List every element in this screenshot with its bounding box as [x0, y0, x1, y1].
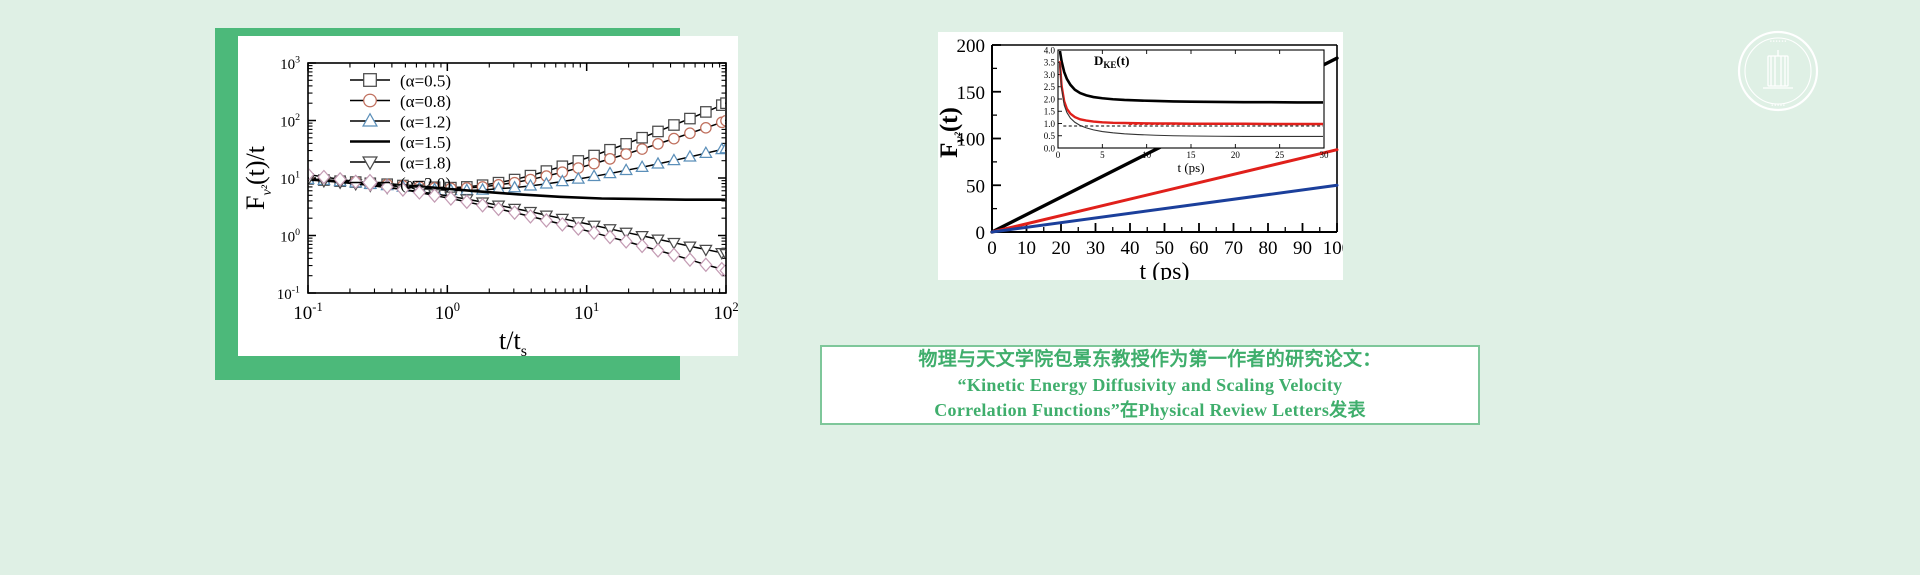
x-tick-label: 100 [1323, 238, 1343, 259]
y-axis-title: Fv²(t)/t [241, 145, 275, 210]
tick-label: 100 [280, 227, 300, 245]
right-figure-card: 0501001502000102030405060708090100t (ps)… [938, 32, 1343, 280]
legend-item[interactable]: (α=0.8) [350, 92, 451, 111]
series-marker [589, 158, 599, 168]
inset-x-tick-label: 15 [1187, 150, 1197, 160]
series-marker [636, 239, 647, 252]
tick-label: 101 [574, 300, 599, 324]
svg-text:101: 101 [574, 300, 599, 324]
x-tick-label: 0 [987, 238, 997, 259]
legend-label: (α=1.2) [400, 113, 451, 132]
series-marker [637, 133, 647, 143]
y-tick-label: 0 [976, 223, 986, 244]
legend-item[interactable]: (α=1.2) [350, 113, 451, 132]
series-marker [701, 107, 711, 117]
paper-announcement-caption: 物理与天文学院包景东教授作为第一作者的研究论文： “Kinetic Energy… [820, 345, 1480, 425]
y-tick-label: 50 [966, 176, 985, 197]
inset-y-tick-label: 2.5 [1044, 82, 1056, 92]
legend-label: (α=2.0) [400, 174, 451, 193]
x-tick-labels: 10-1100101102 [293, 300, 738, 324]
inset-chart: 0.00.51.01.52.02.53.03.54.0051015202530t… [1044, 45, 1329, 175]
tick-label: 102 [280, 112, 300, 130]
inset-y-tick-label: 4.0 [1044, 45, 1056, 55]
series-marker [573, 163, 583, 173]
series-marker [700, 258, 711, 271]
legend-item[interactable]: (α=1.5) [350, 133, 451, 152]
svg-text:100: 100 [435, 300, 460, 324]
svg-text:● ● ● ● ● ●: ● ● ● ● ● ● [1770, 39, 1787, 43]
series-marker [620, 235, 631, 248]
series-marker [363, 114, 377, 126]
series-marker [573, 222, 584, 235]
caption-line-2: “Kinetic Energy Diffusivity and Scaling … [958, 373, 1343, 398]
series-marker [685, 113, 695, 123]
y-tick-label: 150 [957, 83, 986, 104]
svg-text:102: 102 [280, 112, 300, 130]
series-marker [605, 154, 615, 164]
y-tick-label: 200 [957, 36, 986, 57]
series-marker [637, 144, 647, 154]
inset-y-tick-label: 2.0 [1044, 94, 1056, 104]
svg-text:Fv²(t)/t: Fv²(t)/t [241, 145, 275, 210]
x-tick-label: 80 [1259, 238, 1278, 259]
x-tick-label: 10 [1017, 238, 1036, 259]
left-figure-card: 10-110010110210-1100101102103t/tsFv²(t)/… [238, 36, 738, 356]
tick-label: 102 [713, 300, 738, 324]
tick-label: 101 [280, 170, 300, 188]
inset-x-tick-label: 30 [1320, 150, 1330, 160]
tick-label: 10-1 [277, 285, 300, 303]
series-marker [653, 126, 663, 136]
legend-label: (α=0.8) [400, 92, 451, 111]
legend-item[interactable]: (α=2.0) [350, 174, 451, 193]
right-chart-plot: 0501001502000102030405060708090100t (ps)… [938, 32, 1343, 280]
svg-text:● ● ● ● ●: ● ● ● ● ● [1771, 103, 1785, 107]
tick-label: 100 [435, 300, 460, 324]
inset-y-tick-label: 0.0 [1044, 143, 1056, 153]
series-marker [653, 139, 663, 149]
inset-x-tick-label: 5 [1100, 150, 1105, 160]
svg-text:10-1: 10-1 [293, 300, 322, 324]
x-tick-label: 60 [1190, 238, 1209, 259]
legend-label: (α=0.5) [400, 72, 451, 91]
legend-item[interactable]: (α=1.8) [350, 154, 451, 173]
caption-line-1: 物理与天文学院包景东教授作为第一作者的研究论文： [918, 347, 1381, 373]
caption-line-3: Correlation Functions”在Physical Review L… [934, 398, 1366, 423]
x-tick-label: 30 [1086, 238, 1105, 259]
inset-x-tick-label: 10 [1142, 150, 1152, 160]
y-tick-labels: 10-1100101102103 [277, 55, 300, 303]
series-marker [701, 123, 711, 133]
series-marker [669, 120, 679, 130]
inset-y-tick-label: 1.5 [1044, 107, 1056, 117]
series-marker [604, 231, 615, 244]
inset-y-tick-label: 0.5 [1044, 131, 1056, 141]
x-tick-label: 90 [1293, 238, 1312, 259]
x-tick-label: 40 [1121, 238, 1140, 259]
y-ticks [992, 45, 1001, 232]
x-tick-label: 70 [1224, 238, 1243, 259]
legend-label: (α=1.8) [400, 154, 451, 173]
university-seal-icon: ● ● ● ● ● ● ● ● ● ● ● [1737, 30, 1819, 112]
series-marker [652, 244, 663, 257]
series-marker [668, 248, 679, 261]
tick-label: 103 [280, 55, 300, 73]
series-marker [684, 253, 695, 266]
inset-x-tick-label: 20 [1231, 150, 1241, 160]
series-marker [363, 157, 377, 169]
series-marker [621, 149, 631, 159]
inset-y-tick-label: 1.0 [1044, 119, 1056, 129]
x-tick-label: 50 [1155, 238, 1174, 259]
inset-x-tick-label: 25 [1275, 150, 1285, 160]
x-axis-title: t/ts [499, 326, 527, 356]
svg-text:10-1: 10-1 [277, 285, 300, 303]
series-marker [669, 133, 679, 143]
tick-label: 10-1 [293, 300, 322, 324]
inset-y-tick-label: 3.5 [1044, 58, 1056, 68]
series-marker [364, 74, 377, 87]
x-tick-label: 20 [1052, 238, 1071, 259]
svg-text:101: 101 [280, 170, 300, 188]
series-marker [588, 226, 599, 239]
legend-item[interactable]: (α=0.5) [350, 72, 451, 91]
x-axis-title: t (ps) [1140, 259, 1190, 280]
inset-x-axis-title: t (ps) [1177, 160, 1204, 175]
svg-text:100: 100 [280, 227, 300, 245]
inset-y-tick-label: 3.0 [1044, 70, 1056, 80]
series-marker [364, 94, 377, 107]
series-marker [621, 139, 631, 149]
series-marker [685, 128, 695, 138]
inset-x-tick-label: 0 [1056, 150, 1061, 160]
svg-text:103: 103 [280, 55, 300, 73]
svg-text:102: 102 [713, 300, 738, 324]
chart-legend: (α=0.5)(α=0.8)(α=1.2)(α=1.5)(α=1.8)(α=2.… [350, 72, 451, 194]
left-chart-plot: 10-110010110210-1100101102103t/tsFv²(t)/… [238, 36, 738, 356]
legend-label: (α=1.5) [400, 133, 451, 152]
